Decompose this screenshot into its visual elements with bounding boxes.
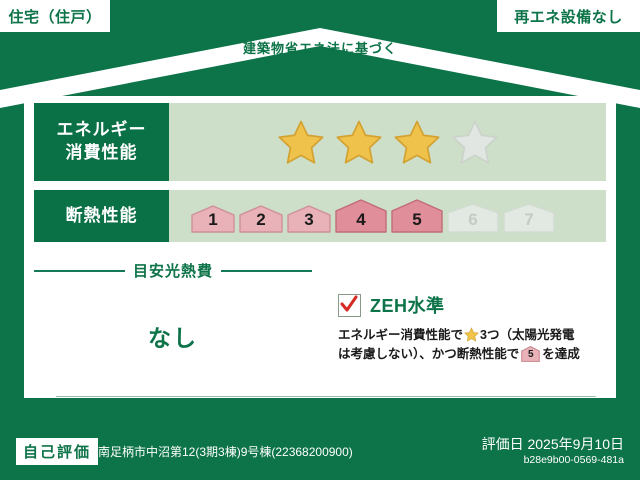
energy-label-line1: エネルギー bbox=[57, 119, 147, 142]
energy-consumption-row: エネルギー 消費性能 bbox=[34, 103, 606, 181]
utility-cost-value: なし bbox=[34, 319, 312, 353]
insulation-grade-value: 4 bbox=[335, 210, 387, 230]
energy-label-line2: 消費性能 bbox=[66, 142, 138, 165]
insulation-grade-badge: 1 bbox=[191, 205, 235, 233]
utility-cost-heading: 目安光熱費 bbox=[34, 260, 312, 281]
badge-renewable-energy-label: 再エネ設備なし bbox=[514, 6, 623, 27]
zeh-desc-part2: は考慮しない）、かつ断熱性能で bbox=[338, 347, 519, 361]
insulation-grade-badge: 4 bbox=[335, 199, 387, 233]
zeh-heading: ZEH水準 bbox=[338, 292, 610, 318]
insulation-grade-badges: 1234567 bbox=[169, 199, 555, 233]
zeh-section: ZEH水準 エネルギー消費性能で3つ（太陽光発電は考慮しない）、かつ断熱性能で5… bbox=[338, 292, 610, 365]
zeh-title: ZEH水準 bbox=[370, 292, 445, 318]
energy-consumption-label: エネルギー 消費性能 bbox=[34, 103, 169, 181]
utility-cost-section: 目安光熱費 なし bbox=[34, 260, 312, 353]
badge-renewable-energy: 再エネ設備なし bbox=[497, 0, 640, 32]
star-rating bbox=[169, 119, 499, 165]
cost-rule-right bbox=[221, 270, 312, 272]
insulation-label: 断熱性能 bbox=[34, 190, 169, 242]
insulation-grade-badge: 2 bbox=[239, 205, 283, 233]
insulation-grade-inline-value: 5 bbox=[521, 347, 540, 363]
insulation-grade-value: 1 bbox=[191, 210, 235, 230]
star-icon-inline bbox=[464, 327, 479, 342]
evaluation-id: b28e9b00-0569-481a bbox=[524, 454, 624, 466]
insulation-grade-value: 6 bbox=[447, 210, 499, 230]
rating-rows: エネルギー 消費性能 断熱性能 1234567 bbox=[34, 103, 606, 242]
self-evaluation-badge: 自己評価 bbox=[16, 438, 98, 465]
insulation-grade-badge: 3 bbox=[287, 205, 331, 233]
star-icon-empty bbox=[451, 119, 499, 165]
star-icon-filled bbox=[393, 119, 441, 165]
insulation-grade-value: 2 bbox=[239, 210, 283, 230]
insulation-grade-inline: 5 bbox=[521, 346, 540, 362]
insulation-label-text: 断熱性能 bbox=[66, 205, 138, 228]
title-subtitle: 建築物省エネ法に基づく bbox=[0, 38, 640, 57]
star-icon-filled bbox=[335, 119, 383, 165]
insulation-grade-badge: 5 bbox=[391, 199, 443, 233]
insulation-grade-value: 7 bbox=[503, 210, 555, 230]
evaluation-date: 評価日 2025年9月10日 bbox=[482, 434, 624, 454]
energy-consumption-value bbox=[169, 103, 606, 181]
utility-cost-title: 目安光熱費 bbox=[133, 260, 213, 281]
zeh-desc-stars: 3つ（太陽光発電 bbox=[480, 328, 574, 342]
insulation-grade-badge: 6 bbox=[447, 203, 499, 233]
label-footer: 自己評価 南足柄市中沼第12(3期3棟)9号棟(22368200900) 評価日… bbox=[0, 424, 640, 480]
star-icon-filled bbox=[277, 119, 325, 165]
title-main: 省エネ性能ラベル bbox=[0, 59, 640, 95]
energy-label-card: 住宅（住戸） 再エネ設備なし 建築物省エネ法に基づく 省エネ性能ラベル エネルギ… bbox=[0, 0, 640, 480]
zeh-description: エネルギー消費性能で3つ（太陽光発電は考慮しない）、かつ断熱性能で5を達成 bbox=[338, 326, 610, 365]
badge-building-type: 住宅（住戸） bbox=[0, 0, 110, 32]
insulation-grade-badge: 7 bbox=[503, 203, 555, 233]
check-icon bbox=[340, 295, 358, 314]
insulation-grade-value: 5 bbox=[391, 210, 443, 230]
insulation-row: 断熱性能 1234567 bbox=[34, 190, 606, 242]
property-address: 南足柄市中沼第12(3期3棟)9号棟(22368200900) bbox=[98, 443, 353, 460]
insulation-value: 1234567 bbox=[169, 190, 606, 242]
label-title: 建築物省エネ法に基づく 省エネ性能ラベル bbox=[0, 38, 640, 95]
insulation-grade-value: 3 bbox=[287, 210, 331, 230]
cost-rule-left bbox=[34, 270, 125, 272]
footer-divider bbox=[56, 396, 596, 397]
zeh-desc-part3: を達成 bbox=[542, 347, 580, 361]
zeh-desc-part1: エネルギー消費性能で bbox=[338, 328, 463, 342]
badge-building-type-label: 住宅（住戸） bbox=[8, 6, 101, 27]
zeh-checkbox[interactable] bbox=[338, 294, 361, 317]
